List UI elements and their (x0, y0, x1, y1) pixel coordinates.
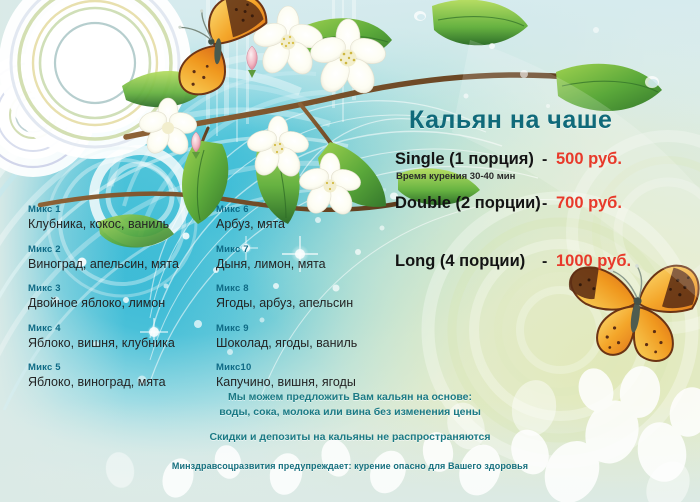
footer-line-1: Мы можем предложить Вам кальян на основе… (0, 390, 700, 405)
price-plan-list: Single (1 порция) - 500 руб. Время курен… (395, 150, 695, 296)
mix-item: Микс 8 Ягоды, арбуз, апельсин (216, 282, 357, 311)
mix-item: Микс 6 Арбуз, мята (216, 203, 357, 232)
price-plan-single: Single (1 порция) - 500 руб. Время курен… (395, 150, 695, 194)
mix-ingredients: Клубника, кокос, ваниль (28, 216, 179, 232)
plan-name: Double (2 порции) (395, 194, 541, 213)
mix-item: Микс 5 Яблоко, виноград, мята (28, 361, 179, 390)
mix-item: Микс 4 Яблоко, вишня, клубника (28, 322, 179, 351)
mix-label: Микс 9 (216, 322, 357, 335)
plan-dash: - (542, 253, 547, 271)
mix-item: Микс 2 Виноград, апельсин, мята (28, 243, 179, 272)
footer-line-2: воды, сока, молока или вина без изменени… (0, 405, 700, 420)
price-plan-double: Double (2 порции) - 700 руб. (395, 194, 695, 252)
mix-label: Микс 5 (28, 361, 179, 374)
mix-item: Микс 3 Двойное яблоко, лимон (28, 282, 179, 311)
health-warning: Минздравсоцразвития предупреждает: курен… (0, 461, 700, 471)
mix-label: Микс 1 (28, 203, 179, 216)
plan-name: Single (1 порция) (395, 150, 534, 169)
mix-label: Микс 3 (28, 282, 179, 295)
price-plan-long: Long (4 порции) - 1000 руб. (395, 252, 695, 296)
plan-price: 1000 руб. (556, 252, 631, 271)
footer-line-3: Скидки и депозиты на кальяны не распрост… (0, 430, 700, 445)
hookah-menu-poster: Кальян на чаше Single (1 порция) - 500 р… (0, 0, 700, 502)
mix-ingredients: Яблоко, виноград, мята (28, 374, 179, 390)
page-title: Кальян на чаше (409, 106, 612, 135)
mix-ingredients: Яблоко, вишня, клубника (28, 335, 179, 351)
footer-notes: Мы можем предложить Вам кальян на основе… (0, 390, 700, 445)
plan-price: 500 руб. (556, 150, 622, 169)
mix-ingredients: Дыня, лимон, мята (216, 256, 357, 272)
mix-ingredients: Виноград, апельсин, мята (28, 256, 179, 272)
mix-item: Микс 7 Дыня, лимон, мята (216, 243, 357, 272)
mix-list-right: Микс 6 Арбуз, мята Микс 7 Дыня, лимон, м… (216, 203, 357, 401)
mix-item: Микс10 Капучино, вишня, ягоды (216, 361, 357, 390)
mix-ingredients: Двойное яблоко, лимон (28, 295, 179, 311)
plan-dash: - (542, 195, 547, 213)
mix-item: Микс 9 Шоколад, ягоды, ваниль (216, 322, 357, 351)
mix-ingredients: Арбуз, мята (216, 216, 357, 232)
mix-ingredients: Капучино, вишня, ягоды (216, 374, 357, 390)
mix-label: Микс 6 (216, 203, 357, 216)
plan-dash: - (542, 151, 547, 169)
plan-price: 700 руб. (556, 194, 622, 213)
plan-name: Long (4 порции) (395, 252, 525, 271)
mix-ingredients: Ягоды, арбуз, апельсин (216, 295, 357, 311)
mix-label: Микс 7 (216, 243, 357, 256)
mix-item: Микс 1 Клубника, кокос, ваниль (28, 203, 179, 232)
mix-list-left: Микс 1 Клубника, кокос, ваниль Микс 2 Ви… (28, 203, 179, 401)
mix-label: Микс 8 (216, 282, 357, 295)
mix-ingredients: Шоколад, ягоды, ваниль (216, 335, 357, 351)
mix-label: Микс 4 (28, 322, 179, 335)
mix-label: Микс10 (216, 361, 357, 374)
plan-note: Время курения 30-40 мин (396, 171, 515, 182)
mix-label: Микс 2 (28, 243, 179, 256)
